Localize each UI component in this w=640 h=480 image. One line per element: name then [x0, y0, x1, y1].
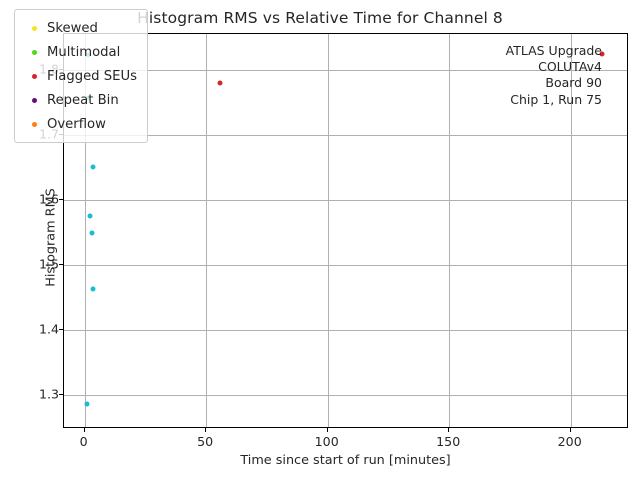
gridline-horizontal — [64, 265, 627, 266]
legend-swatch — [32, 74, 37, 79]
data-point — [87, 213, 92, 218]
x-tick-mark — [205, 428, 206, 432]
chart-annotation: ATLAS UpgradeCOLUTAv4Board 90Chip 1, Run… — [506, 43, 602, 108]
y-tick-mark — [59, 329, 63, 330]
gridline-vertical — [328, 34, 329, 427]
gridline-horizontal — [64, 395, 627, 396]
legend-label: Repeat Bin — [47, 93, 119, 108]
legend-marker-icon — [21, 26, 47, 31]
legend-item-overflow[interactable]: Overflow — [21, 112, 137, 136]
x-tick-mark — [448, 428, 449, 432]
annotation-line: Chip 1, Run 75 — [506, 92, 602, 108]
legend-marker-icon — [21, 74, 47, 79]
legend-item-multimodal[interactable]: Multimodal — [21, 40, 137, 64]
data-point — [218, 81, 223, 86]
legend-label: Overflow — [47, 117, 106, 132]
gridline-vertical — [206, 34, 207, 427]
legend-item-flagged-seus[interactable]: Flagged SEUs — [21, 64, 137, 88]
legend-swatch — [32, 50, 37, 55]
x-tick-label: 200 — [558, 434, 582, 449]
legend-marker-icon — [21, 98, 47, 103]
data-point — [90, 287, 95, 292]
y-tick-mark — [59, 394, 63, 395]
legend-label: Skewed — [47, 21, 98, 36]
x-tick-mark — [84, 428, 85, 432]
x-tick-mark — [327, 428, 328, 432]
x-tick-label: 150 — [436, 434, 460, 449]
y-tick-label: 1.3 — [39, 386, 59, 401]
data-point — [89, 231, 94, 236]
gridline-horizontal — [64, 200, 627, 201]
legend-marker-icon — [21, 50, 47, 55]
data-point — [91, 165, 96, 170]
annotation-line: ATLAS Upgrade — [506, 43, 602, 59]
gridline-horizontal — [64, 330, 627, 331]
y-axis-label: Histogram RMS — [44, 108, 59, 368]
x-tick-label: 100 — [315, 434, 339, 449]
legend-item-repeat-bin[interactable]: Repeat Bin — [21, 88, 137, 112]
annotation-line: COLUTAv4 — [506, 59, 602, 75]
x-tick-label: 0 — [80, 434, 88, 449]
x-tick-label: 50 — [197, 434, 213, 449]
gridline-horizontal — [64, 135, 627, 136]
legend-swatch — [32, 98, 37, 103]
legend-label: Multimodal — [47, 45, 120, 60]
x-tick-mark — [570, 428, 571, 432]
data-point — [84, 402, 89, 407]
x-axis-label: Time since start of run [minutes] — [63, 453, 628, 468]
legend-swatch — [32, 26, 37, 31]
y-tick-mark — [59, 199, 63, 200]
gridline-vertical — [449, 34, 450, 427]
legend-marker-icon — [21, 122, 47, 127]
annotation-line: Board 90 — [506, 75, 602, 91]
y-tick-mark — [59, 264, 63, 265]
legend-item-skewed[interactable]: Skewed — [21, 16, 137, 40]
chart-legend: SkewedMultimodalFlagged SEUsRepeat BinOv… — [14, 9, 148, 143]
legend-label: Flagged SEUs — [47, 69, 137, 84]
chart-figure: Histogram RMS vs Relative Time for Chann… — [0, 0, 640, 480]
legend-swatch — [32, 122, 37, 127]
